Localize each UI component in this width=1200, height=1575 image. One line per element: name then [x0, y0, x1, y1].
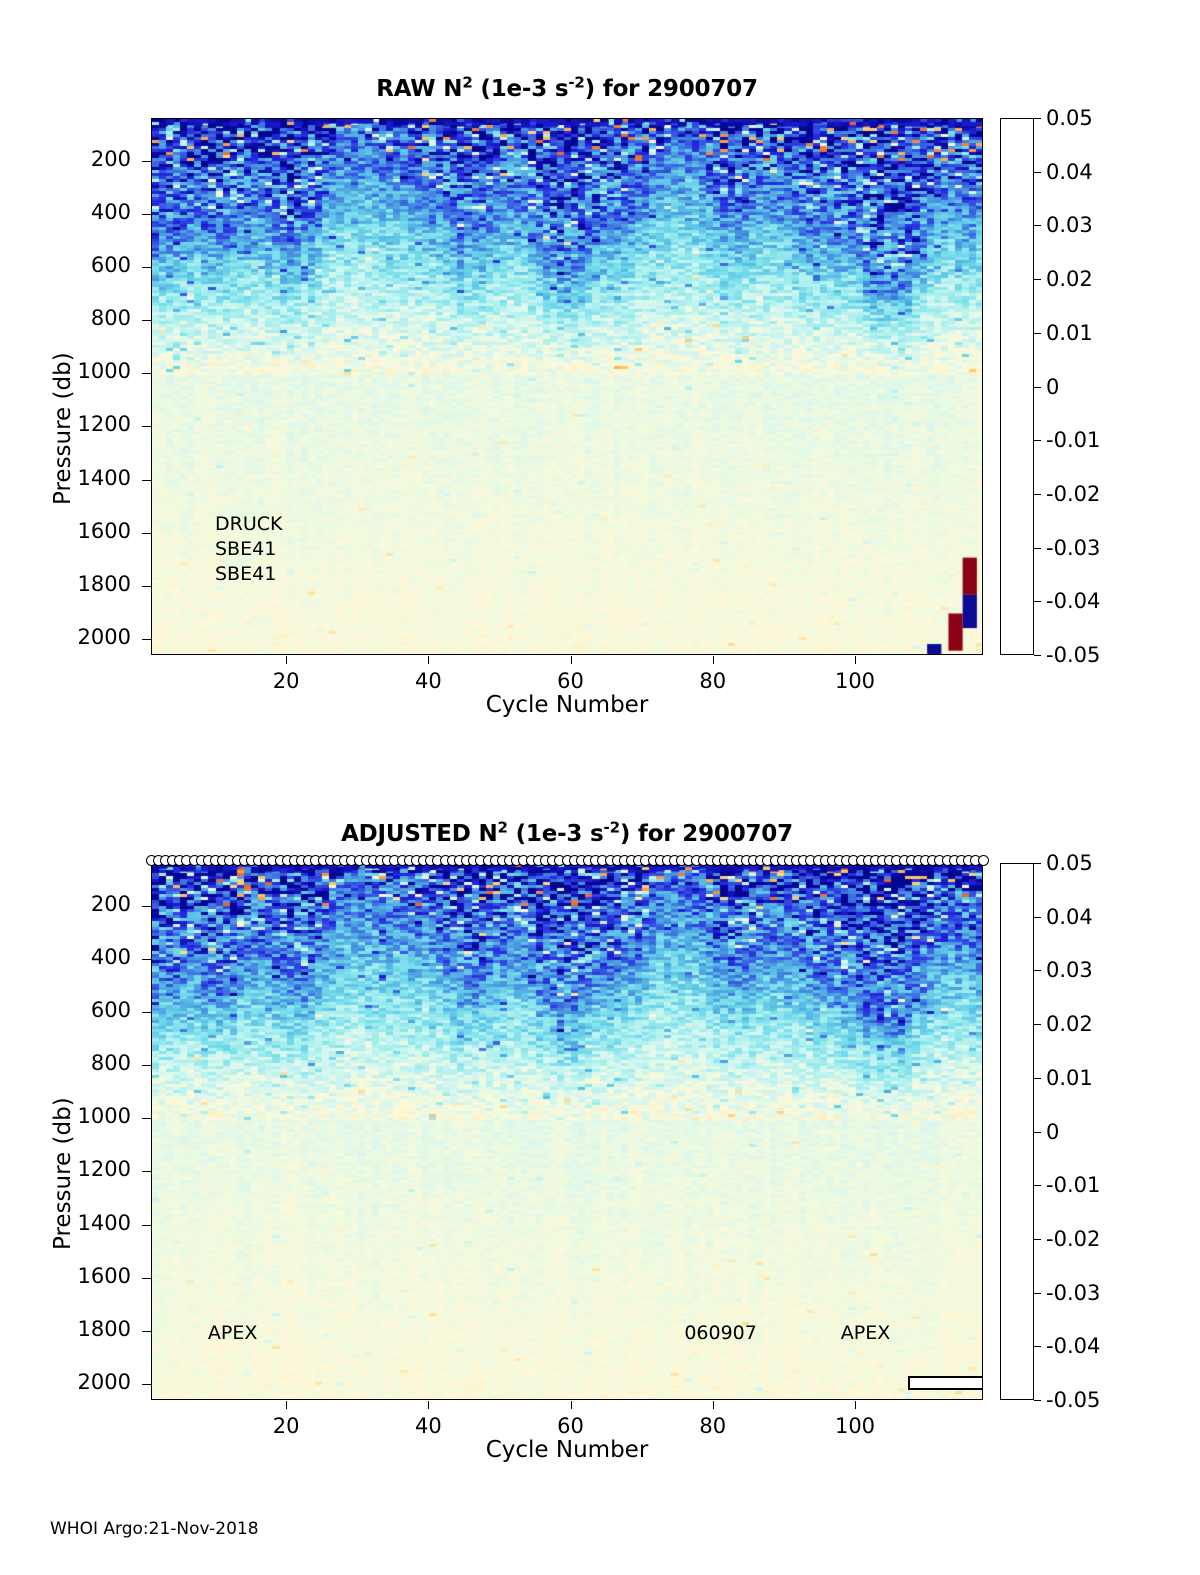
colorbar-tick-label: 0.03	[1046, 213, 1093, 237]
colorbar-tick-label: 0.05	[1046, 851, 1093, 875]
y-tick	[142, 533, 151, 534]
y-tick	[142, 373, 151, 374]
x-tick	[286, 656, 287, 664]
x-tick	[571, 656, 572, 664]
colorbar-tick	[1034, 601, 1041, 602]
y-tick-label: 600	[0, 998, 131, 1022]
footer-credit: WHOI Argo:21-Nov-2018	[50, 1519, 259, 1539]
plot-annotation: APEX	[208, 1322, 257, 1344]
colorbar-tick-label: -0.05	[1046, 643, 1100, 667]
x-axis-label-raw: Cycle Number	[151, 692, 983, 718]
y-tick-label: 200	[0, 147, 131, 171]
colorbar-tick	[1034, 970, 1041, 971]
y-tick	[142, 1331, 151, 1332]
colorbar-tick-label: 0.03	[1046, 958, 1093, 982]
colorbar-tick-label: 0.02	[1046, 1012, 1093, 1036]
y-tick	[142, 1012, 151, 1013]
y-tick-label: 400	[0, 945, 131, 969]
colorbar-tick-label: -0.02	[1046, 1227, 1100, 1251]
y-tick	[142, 1278, 151, 1279]
y-tick-label: 200	[0, 892, 131, 916]
qc-marker-box	[908, 1376, 983, 1390]
y-tick	[142, 1171, 151, 1172]
y-tick-label: 1800	[0, 1317, 131, 1341]
colorbar-tick	[1034, 1239, 1041, 1240]
colorbar-tick-label: -0.01	[1046, 428, 1100, 452]
y-tick-label: 2000	[0, 1370, 131, 1394]
x-tick-label: 20	[273, 1414, 300, 1438]
x-tick	[713, 1401, 714, 1409]
y-tick	[142, 586, 151, 587]
y-axis-label-adjusted: Pressure (db)	[50, 1097, 76, 1250]
x-tick-label: 20	[273, 669, 300, 693]
heatmap-image-adjusted	[152, 864, 983, 1400]
y-tick	[142, 480, 151, 481]
colorbar-tick	[1034, 494, 1041, 495]
plot-annotation: APEX	[841, 1322, 890, 1344]
y-tick-label: 1600	[0, 1264, 131, 1288]
colorbar-gradient-raw	[1000, 118, 1034, 655]
y-tick-label: 600	[0, 253, 131, 277]
plot-annotation: SBE41	[215, 563, 276, 585]
plot-annotation: DRUCK	[215, 513, 282, 535]
figure-page: RAW N2 (1e-3 s-2) for 2900707 2004006008…	[0, 0, 1200, 1575]
y-tick	[142, 214, 151, 215]
y-tick	[142, 1384, 151, 1385]
colorbar-tick-label: 0	[1046, 1120, 1059, 1144]
x-tick	[713, 656, 714, 664]
y-tick-label: 2000	[0, 625, 131, 649]
colorbar-tick	[1034, 1024, 1041, 1025]
colorbar-tick	[1034, 1132, 1041, 1133]
x-tick	[571, 1401, 572, 1409]
colorbar-tick-label: -0.04	[1046, 1334, 1100, 1358]
panel-adjusted: ADJUSTED N2 (1e-3 s-2) for 2900707 20040…	[0, 745, 1200, 1535]
colorbar-tick	[1034, 225, 1041, 226]
colorbar-tick	[1034, 1078, 1041, 1079]
colorbar-gradient-adjusted	[1000, 863, 1034, 1400]
colorbar-tick	[1034, 1293, 1041, 1294]
y-tick-label: 1800	[0, 572, 131, 596]
x-tick-label: 100	[835, 669, 875, 693]
colorbar-tick-label: 0	[1046, 375, 1059, 399]
colorbar-tick-label: 0.01	[1046, 321, 1093, 345]
x-tick-label: 80	[699, 669, 726, 693]
x-tick-label: 40	[415, 669, 442, 693]
colorbar-tick	[1034, 387, 1041, 388]
cycle-marker-row	[151, 855, 983, 868]
colorbar-tick	[1034, 1400, 1041, 1401]
plot-annotation: SBE41	[215, 538, 276, 560]
x-tick	[855, 656, 856, 664]
y-tick-label: 800	[0, 306, 131, 330]
colorbar-tick	[1034, 548, 1041, 549]
colorbar-tick	[1034, 917, 1041, 918]
x-tick	[855, 1401, 856, 1409]
colorbar-tick	[1034, 440, 1041, 441]
colorbar-tick	[1034, 172, 1041, 173]
x-tick	[286, 1401, 287, 1409]
y-tick-label: 1600	[0, 519, 131, 543]
colorbar-tick	[1034, 333, 1041, 334]
x-tick-label: 100	[835, 1414, 875, 1438]
y-tick	[142, 267, 151, 268]
colorbar-tick-label: -0.03	[1046, 1281, 1100, 1305]
colorbar-tick-label: -0.05	[1046, 1388, 1100, 1412]
cycle-marker-dot	[978, 855, 989, 866]
y-tick-label: 800	[0, 1051, 131, 1075]
y-tick	[142, 959, 151, 960]
x-tick-label: 80	[699, 1414, 726, 1438]
plot-annotation: 060907	[684, 1322, 757, 1344]
heatmap-image-raw	[152, 119, 983, 655]
y-tick	[142, 320, 151, 321]
y-tick	[142, 906, 151, 907]
y-tick	[142, 426, 151, 427]
y-tick-label: 400	[0, 200, 131, 224]
colorbar-tick	[1034, 118, 1041, 119]
x-tick-label: 40	[415, 1414, 442, 1438]
y-tick	[142, 639, 151, 640]
x-axis-label-adjusted: Cycle Number	[151, 1437, 983, 1463]
colorbar-tick-label: -0.02	[1046, 482, 1100, 506]
colorbar-tick-label: 0.02	[1046, 267, 1093, 291]
panel-title-raw: RAW N2 (1e-3 s-2) for 2900707	[151, 76, 983, 102]
colorbar-tick-label: 0.05	[1046, 106, 1093, 130]
y-axis-label-raw: Pressure (db)	[50, 352, 76, 505]
x-tick	[428, 656, 429, 664]
x-tick	[428, 1401, 429, 1409]
colorbar-tick	[1034, 863, 1041, 864]
colorbar-tick-label: 0.04	[1046, 160, 1093, 184]
x-tick-label: 60	[557, 1414, 584, 1438]
y-tick	[142, 1065, 151, 1066]
colorbar-tick	[1034, 1185, 1041, 1186]
panel-raw: RAW N2 (1e-3 s-2) for 2900707 2004006008…	[0, 0, 1200, 790]
colorbar-tick-label: -0.04	[1046, 589, 1100, 613]
colorbar-tick	[1034, 655, 1041, 656]
colorbar-tick	[1034, 1346, 1041, 1347]
y-tick	[142, 161, 151, 162]
colorbar-tick-label: 0.01	[1046, 1066, 1093, 1090]
x-tick-label: 60	[557, 669, 584, 693]
y-tick	[142, 1225, 151, 1226]
colorbar-tick-label: -0.01	[1046, 1173, 1100, 1197]
colorbar-tick-label: 0.04	[1046, 905, 1093, 929]
colorbar-tick	[1034, 279, 1041, 280]
y-tick	[142, 1118, 151, 1119]
heatmap-axes-adjusted	[151, 863, 983, 1400]
panel-title-adjusted: ADJUSTED N2 (1e-3 s-2) for 2900707	[151, 821, 983, 847]
colorbar-tick-label: -0.03	[1046, 536, 1100, 560]
